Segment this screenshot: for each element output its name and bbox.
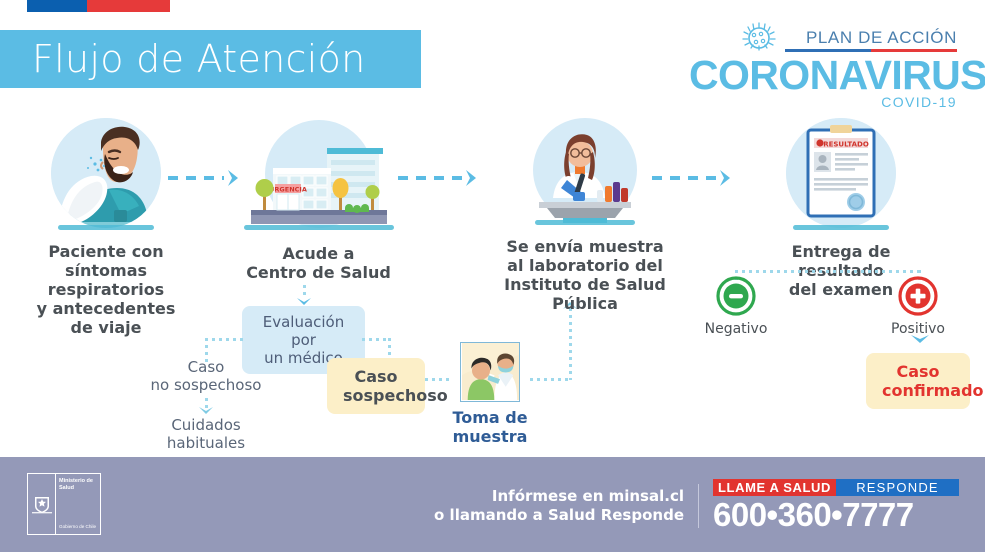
footer-message: Infórmese en minsal.cl o llamando a Salu… [434,487,698,525]
step-label-centro-salud: Acude a Centro de Salud [216,244,421,282]
hotline-number: 600•360•7777 [713,497,959,533]
svg-text:RESULTADO: RESULTADO [823,141,869,149]
ministry-logo: Ministerio de Salud Gobierno de Chile [27,473,101,535]
result-document-icon: RESULTADO [786,118,896,228]
hotline-block: LLAME A SALUD RESPONDE 600•360•7777 [699,479,959,533]
footer: Ministerio de Salud Gobierno de Chile In… [0,457,985,552]
hospital-building-icon: URGENCIA [239,118,399,228]
government-name: Gobierno de Chile [59,524,97,530]
plus-circle-icon [898,276,938,316]
step-shadow [535,220,635,225]
coronavirus-logo: PLAN DE ACCIÓN CORONAVIRUS COVID-19 [689,22,957,102]
text-caso-no-sospechoso: Caso no sospechoso [150,358,262,394]
step-shadow [244,225,394,230]
hotline-tag: LLAME A SALUD RESPONDE [713,479,959,496]
negativo-label: Negativo [700,321,772,337]
caso-sospechoso-label: Caso sospechoso [327,358,425,414]
result-negativo: Negativo [700,276,772,337]
hotline-tag-red: LLAME A SALUD [713,479,836,496]
step-label-paciente: Paciente con síntomas respiratorios y an… [16,242,196,337]
chile-flag-bar [27,0,170,12]
result-positivo: Positivo [882,276,954,337]
dash-branch-split [205,338,245,341]
flag-red [87,0,170,12]
dash-branch-right [362,338,390,341]
cuidados-habituales-label: Cuidados habituales [150,416,262,452]
toma-muestra-label: Toma de muestra [448,408,532,446]
footer-contact: Infórmese en minsal.cl o llamando a Salu… [434,479,959,533]
box-caso-sospechoso: Caso sospechoso [327,358,425,414]
brand-label: CORONAVIRUS [689,54,957,96]
step-paciente: Paciente con síntomas respiratorios y an… [16,118,196,337]
chevron-down-icon [198,406,214,416]
step-laboratorio: Se envía muestra al laboratorio del Inst… [470,118,700,313]
svg-text:URGENCIA: URGENCIA [269,186,307,194]
flag-blue [27,0,87,12]
hotline-tag-blue: RESPONDE [836,479,959,496]
chile-coat-of-arms-icon [28,474,56,534]
dash-results-split [735,270,921,273]
step-shadow [58,225,154,230]
swab-sampling-icon [460,342,520,402]
ministry-name: Ministerio de Salud [59,478,97,491]
coronavirus-icon [739,21,779,51]
caso-no-sospechoso-label: Caso no sospechoso [150,358,262,394]
step-centro-salud: URGENCIA [216,118,421,282]
caso-confirmado-label: Caso confirmado [866,353,970,409]
block-toma-muestra: Toma de muestra [448,342,532,446]
minus-circle-icon [716,276,756,316]
text-cuidados-habituales: Cuidados habituales [150,416,262,452]
dash-muestra-to-lab [530,378,572,381]
chevron-down-icon [910,334,930,346]
plan-label: PLAN DE ACCIÓN [806,29,957,47]
sneezing-man-icon [51,118,161,228]
page-title: Flujo de Atención [0,37,366,81]
arrow-head-icon [718,169,732,187]
infographic-page: Flujo de Atención [0,0,985,552]
step-label-laboratorio: Se envía muestra al laboratorio del Inst… [470,237,700,313]
flow-diagram: Paciente con síntomas respiratorios y an… [0,110,985,450]
dash-up-to-lab [569,308,572,380]
title-banner: Flujo de Atención [0,30,421,88]
lab-scientist-icon [525,118,645,228]
step-shadow [793,225,889,230]
box-caso-confirmado: Caso confirmado [866,353,970,409]
